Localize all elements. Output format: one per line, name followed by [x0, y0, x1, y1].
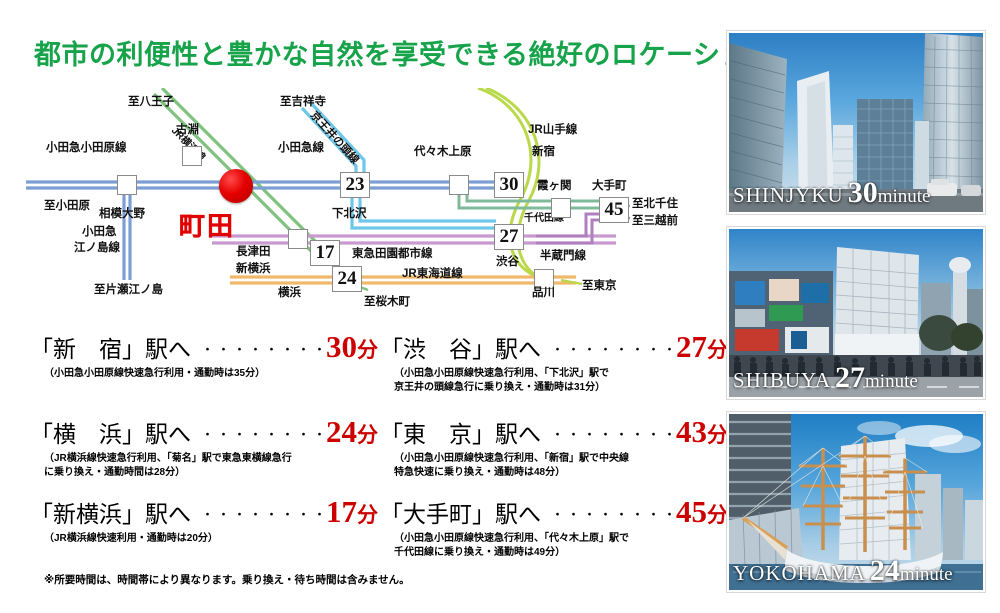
terminal-label-kichijoji: 至吉祥寺 [280, 96, 326, 108]
terminal-label-kitasenju: 至北千住 [632, 198, 678, 210]
line-label-tokyu-denentoshi: 東急田園都市線 [352, 248, 433, 260]
terminal-label-katasee-noshima: 至片瀬江ノ島 [94, 284, 163, 296]
leader-dots: ・・・・・・・・・ [541, 339, 676, 358]
odakyu-odawara-line [26, 182, 512, 188]
access-note-line: （小田急小田原線快速急行利用、「新宿」駅で中央線 [394, 452, 728, 466]
access-note: （小田急小田原線快速急行利用・通勤時は35分） [30, 367, 378, 381]
photo-caption-city: SHINJYKU [733, 183, 844, 207]
station-num-shimokitazawa[interactable]: 23 [340, 172, 370, 198]
access-note-line: （小田急小田原線快速急行利用・通勤時は35分） [44, 367, 378, 381]
access-station-name: 「新横浜」駅へ [30, 495, 191, 529]
station-label-shinagawa: 品川 [532, 287, 555, 299]
access-minutes: 17 [326, 496, 357, 527]
access-row-otemachi: 「大手町」駅へ ・・・・・・・・・ 45分 （小田急小田原線快速急行利用、「代々… [380, 495, 728, 559]
access-station-name: 「渋 谷」駅へ [380, 330, 541, 364]
access-minutes-unit: 分 [357, 419, 378, 449]
photo-yokohama: YOKOHAMA 24minute [727, 412, 985, 592]
access-minutes-unit: 分 [707, 334, 728, 364]
access-note-line: （JR横浜線快速利用・通勤時は20分） [44, 532, 378, 546]
terminal-label-sakuragicho: 至桜木町 [364, 296, 410, 308]
leader-dots: ・・・・・・・・・ [191, 504, 326, 523]
photo-caption-shinjuku: SHINJYKU 30minute [733, 176, 981, 210]
station-num-shinyokohama[interactable]: 17 [310, 240, 340, 266]
access-row-shinjuku: 「新 宿」駅へ ・・・・・・・・・ 30分 （小田急小田原線快速急行利用・通勤時… [30, 330, 378, 381]
line-label-jr-tokaido: JR東海道線 [402, 268, 463, 280]
station-label-shibuya: 渋谷 [496, 256, 519, 268]
photo-shibuya: SHIBUYA 27minute [727, 227, 985, 399]
access-minutes-unit: 分 [357, 499, 378, 529]
photo-caption-minutes: 30 [848, 176, 878, 209]
access-note-line: 京王井の頭線急行に乗り換え・通勤時は31分） [394, 381, 728, 395]
access-station-name: 「東 京」駅へ [380, 415, 541, 449]
access-minutes-unit: 分 [357, 334, 378, 364]
station-label-shinjuku: 新宿 [532, 146, 555, 158]
station-marker-machida[interactable] [219, 169, 253, 203]
photo-caption-city: SHIBUYA [733, 368, 831, 392]
station-box-kobuchi[interactable] [182, 146, 202, 166]
line-label-hanzomon: 半蔵門線 [540, 250, 586, 262]
access-note: （小田急小田原線快速急行利用、「代々木上原」駅で 千代田線に乗り換え・通勤時は4… [380, 532, 728, 559]
line-label-odakyu-enoshima-2: 江ノ島線 [74, 242, 120, 254]
photo-caption-minutes: 27 [835, 361, 865, 394]
station-num-shibuya[interactable]: 27 [494, 224, 524, 250]
leader-dots: ・・・・・・・・・ [541, 504, 676, 523]
line-label-odakyu-enoshima-1: 小田急 [82, 226, 117, 238]
access-row-shin-yokohama: 「新横浜」駅へ ・・・・・・・・・ 17分 （JR横浜線快速利用・通勤時は20分… [30, 495, 378, 546]
disclaimer-footnote: ※所要時間は、時間帯により異なります。乗り換え・待ち時間は含みません。 [44, 572, 410, 587]
photo-caption-unit: minute [865, 371, 918, 392]
station-num-otemachi[interactable]: 45 [599, 197, 629, 223]
access-row-yokohama: 「横 浜」駅へ ・・・・・・・・・ 24分 （JR横浜線快速急行利用、「菊名」駅… [30, 415, 378, 479]
line-label-odakyu: 小田急線 [278, 142, 324, 154]
station-label-shimokitazawa: 下北沢 [332, 208, 367, 220]
access-note-line: （小田急小田原線快速急行利用、「代々木上原」駅で [394, 532, 728, 546]
station-label-yoyogiuehara: 代々木上原 [414, 146, 472, 158]
access-station-name: 「新 宿」駅へ [30, 330, 191, 364]
photo-caption-minutes: 24 [870, 554, 900, 587]
access-minutes: 43 [676, 416, 707, 447]
station-num-yokohama[interactable]: 24 [332, 266, 362, 292]
station-label-kobuchi: 古淵 [176, 124, 199, 136]
line-label-odakyu-odawara: 小田急小田原線 [46, 142, 127, 154]
access-note: （小田急小田原線快速急行利用、「新宿」駅で中央線 特急快速に乗り換え・通勤時は4… [380, 452, 728, 479]
station-label-sagamiono: 相模大野 [99, 208, 145, 220]
station-box-yoyogiuehara[interactable] [449, 175, 469, 195]
access-minutes-unit: 分 [707, 419, 728, 449]
photo-caption-yokohama: YOKOHAMA 24minute [733, 554, 981, 588]
terminal-label-tokyo: 至東京 [582, 280, 617, 292]
photo-shinjuku: SHINJYKU 30minute [727, 31, 985, 214]
access-map-page: 都市の利便性と豊かな自然を享受できる絶好のロケーション [0, 0, 1000, 613]
station-label-nagatsuta: 長津田 [236, 246, 271, 258]
railway-route-map: 小田急小田原線 小田急線 小田急 江ノ島線 JR横浜線 京王井の頭線 JR山手線… [16, 88, 716, 328]
chiyoda-line [459, 192, 616, 208]
station-box-nagatsuta[interactable] [288, 229, 308, 249]
access-note-line: （JR横浜線快速急行利用、「菊名」駅で東急東横線急行 [44, 452, 378, 466]
access-station-name: 「大手町」駅へ [380, 495, 541, 529]
leader-dots: ・・・・・・・・・ [191, 339, 326, 358]
access-note: （JR横浜線快速急行利用、「菊名」駅で東急東横線急行 に乗り換え・通勤時間は28… [30, 452, 378, 479]
photo-caption-unit: minute [900, 564, 953, 585]
photo-caption-city: YOKOHAMA [733, 561, 866, 585]
page-title: 都市の利便性と豊かな自然を享受できる絶好のロケーション [34, 33, 775, 72]
terminal-label-mitsukoshimae: 至三越前 [632, 215, 678, 227]
access-station-name: 「横 浜」駅へ [30, 415, 191, 449]
access-note-line: に乗り換え・通勤時間は28分） [44, 466, 378, 480]
photo-caption-shibuya: SHIBUYA 27minute [733, 361, 981, 395]
access-minutes-unit: 分 [707, 499, 728, 529]
station-box-sagamiono[interactable] [117, 175, 137, 195]
station-box-kasumigaseki[interactable] [551, 198, 571, 218]
terminal-label-odawara: 至小田原 [44, 200, 90, 212]
station-num-shinjuku[interactable]: 30 [494, 172, 524, 198]
access-minutes: 30 [326, 331, 357, 362]
access-minutes: 45 [676, 496, 707, 527]
access-row-tokyo: 「東 京」駅へ ・・・・・・・・・ 43分 （小田急小田原線快速急行利用、「新宿… [380, 415, 728, 479]
odakyu-enoshima-line [124, 188, 130, 280]
access-row-shibuya: 「渋 谷」駅へ ・・・・・・・・・ 27分 （小田急小田原線快速急行利用、「下北… [380, 330, 728, 394]
station-label-yokohama: 横浜 [278, 287, 301, 299]
station-box-shinagawa[interactable] [534, 269, 554, 289]
access-minutes: 27 [676, 331, 707, 362]
station-label-kasumigaseki: 霞ヶ関 [537, 180, 572, 192]
terminal-label-hachioji: 至八王子 [128, 96, 174, 108]
access-note: （JR横浜線快速利用・通勤時は20分） [30, 532, 378, 546]
line-label-jr-yamanote: JR山手線 [528, 124, 577, 136]
access-note: （小田急小田原線快速急行利用、「下北沢」駅で 京王井の頭線急行に乗り換え・通勤時… [380, 367, 728, 394]
leader-dots: ・・・・・・・・・ [541, 424, 676, 443]
leader-dots: ・・・・・・・・・ [191, 424, 326, 443]
station-label-otemachi: 大手町 [592, 180, 627, 192]
station-label-machida: 町田 [179, 206, 235, 243]
access-note-line: （小田急小田原線快速急行利用、「下北沢」駅で [394, 367, 728, 381]
access-note-line: 千代田線に乗り換え・通勤時は49分） [394, 546, 728, 560]
access-minutes: 24 [326, 416, 357, 447]
photo-caption-unit: minute [878, 186, 931, 207]
access-note-line: 特急快速に乗り換え・通勤時は48分） [394, 466, 728, 480]
station-label-shinyokohama: 新横浜 [236, 263, 271, 275]
